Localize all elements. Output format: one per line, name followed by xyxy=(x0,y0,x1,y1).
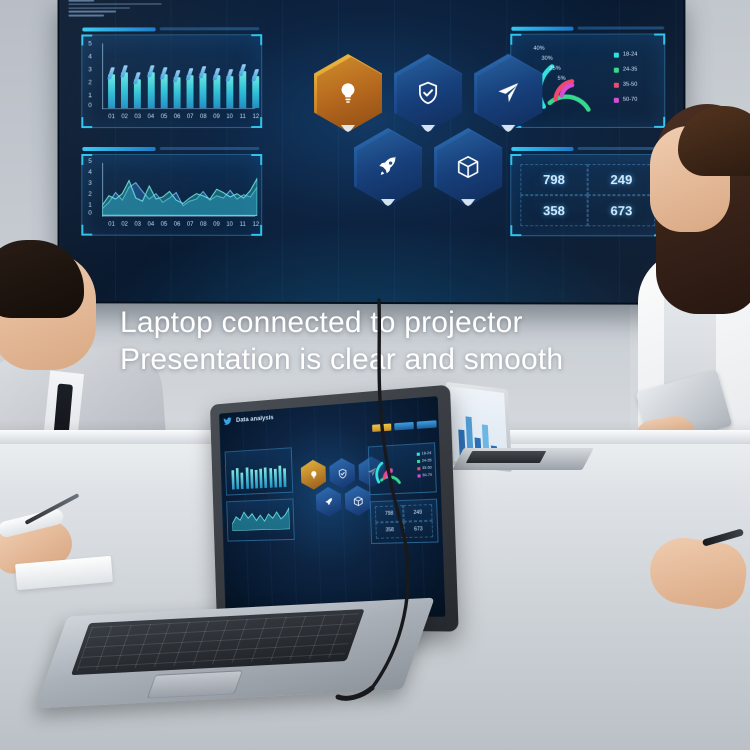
bar-04 xyxy=(147,72,154,108)
laptop-kpi-panel: 798249358673 xyxy=(370,499,439,544)
caption-overlay: Laptop connected to projector Presentati… xyxy=(120,305,680,378)
laptop-legend-label: 50-70 xyxy=(422,473,432,478)
hex-shield[interactable] xyxy=(394,54,462,132)
bar-xtick-05: 05 xyxy=(157,114,171,120)
man-hair xyxy=(0,240,84,318)
bar-xtick-01: 01 xyxy=(105,114,119,120)
laptop-radial-chart: 18-2424-3535-5050-70 xyxy=(368,442,437,495)
lightbulb-icon xyxy=(308,469,319,480)
shield-check-icon xyxy=(337,467,348,479)
laptop-bar xyxy=(231,470,234,490)
legend-swatch xyxy=(614,98,619,103)
scene-root: 5 4 3 2 1 0 010203040506070809101112 5 xyxy=(0,0,750,750)
laptop-trackpad[interactable] xyxy=(147,670,243,698)
laptop-bar xyxy=(283,468,286,487)
bar-xtick-07: 07 xyxy=(183,114,197,120)
kpi-value: 798 xyxy=(520,164,587,195)
caption-line-1: Laptop connected to projector xyxy=(120,305,680,342)
bar-12 xyxy=(252,76,259,108)
laptop-bar xyxy=(259,469,262,488)
legend-item-35-50: 35-50 xyxy=(614,83,637,89)
hex-rocket[interactable] xyxy=(354,128,422,206)
lightbulb-icon xyxy=(335,80,361,106)
paper-plane-icon xyxy=(495,80,521,106)
laptop-bar xyxy=(278,465,281,487)
bar-01 xyxy=(108,74,115,108)
hex-lightbulb[interactable] xyxy=(314,54,382,132)
kpi-value: 358 xyxy=(520,195,587,226)
laptop-legend-label: 35-50 xyxy=(422,465,432,470)
laptop-bar xyxy=(255,470,258,488)
main-laptop-base xyxy=(35,598,434,709)
bar-08 xyxy=(200,73,207,108)
rocket-icon xyxy=(375,154,401,180)
laptop-bar xyxy=(269,468,272,487)
area-chart-svg xyxy=(102,161,257,216)
bar-xtick-11: 11 xyxy=(236,114,250,120)
hex-cube[interactable] xyxy=(434,128,502,206)
bar-02 xyxy=(121,72,128,108)
main-laptop-lid: Data analysis xyxy=(210,385,459,632)
main-laptop-screen[interactable]: Data analysis xyxy=(219,396,445,617)
legend-label: 35-50 xyxy=(623,83,637,89)
area-xtick-11: 11 xyxy=(236,222,250,228)
area-xtick-10: 10 xyxy=(223,222,237,228)
bar-09 xyxy=(213,75,220,108)
legend-label: 18-24 xyxy=(623,53,637,59)
bar-xtick-12: 12 xyxy=(249,114,263,120)
toolbar-button-1[interactable] xyxy=(372,423,391,431)
laptop-bar xyxy=(250,469,253,489)
area-xtick-07: 07 xyxy=(183,222,197,228)
caption-line-2: Presentation is clear and smooth xyxy=(120,342,680,379)
laptop-legend-item: 50-70 xyxy=(417,473,432,478)
area-xtick-08: 08 xyxy=(196,222,210,228)
laptop-bar xyxy=(274,469,277,488)
laptop-kpi-value: 673 xyxy=(404,521,434,538)
laptop-kpi-value: 798 xyxy=(375,505,404,522)
cube-icon xyxy=(455,154,481,180)
toolbar-button-3[interactable] xyxy=(417,420,437,429)
bar-chart-panel: 5 4 3 2 1 0 010203040506070809101112 xyxy=(81,34,262,128)
legend-item-24-35: 24-35 xyxy=(614,68,637,74)
laptop-bar xyxy=(241,472,244,489)
main-laptop: Data analysis xyxy=(55,395,455,725)
secondary-laptop-base xyxy=(452,448,594,470)
bar-11 xyxy=(239,71,246,108)
legend-swatch xyxy=(614,53,619,58)
laptop-legend-item: 35-50 xyxy=(417,465,432,470)
laptop-bar xyxy=(245,468,248,489)
right-hand xyxy=(646,534,750,613)
laptop-kpi-value: 249 xyxy=(403,504,432,522)
screen-fineprint-text xyxy=(68,0,187,18)
laptop-keyboard[interactable] xyxy=(71,609,365,675)
bar-xtick-03: 03 xyxy=(131,114,145,120)
toolbar-button-2[interactable] xyxy=(394,422,414,431)
bar-07 xyxy=(187,75,194,108)
laptop-legend-label: 24-35 xyxy=(422,458,432,463)
bar-xtick-08: 08 xyxy=(196,114,210,120)
bar-xtick-04: 04 xyxy=(144,114,158,120)
laptop-legend-item: 18-24 xyxy=(416,451,431,456)
laptop-bar xyxy=(236,468,239,489)
radial-value-50-70: 5% xyxy=(557,77,565,83)
laptop-area-chart xyxy=(226,498,295,541)
secondary-laptop xyxy=(440,386,590,476)
laptop-bar-chart xyxy=(225,447,294,495)
area-xtick-09: 09 xyxy=(210,222,224,228)
legend-swatch xyxy=(614,83,619,88)
laptop-bar xyxy=(264,467,267,488)
radial-value-24-35: 30% xyxy=(541,57,552,63)
bar-xtick-10: 10 xyxy=(223,114,237,120)
radial-chart-svg xyxy=(533,49,607,123)
area-xtick-12: 12 xyxy=(249,222,263,228)
laptop-legend-item: 24-35 xyxy=(417,458,432,463)
legend-item-18-24: 18-24 xyxy=(614,53,637,59)
rocket-icon xyxy=(323,496,334,507)
shield-check-icon xyxy=(415,80,441,106)
laptop-app-title: Data analysis xyxy=(236,414,274,424)
bar-xtick-02: 02 xyxy=(118,114,132,120)
radial-value-35-50: 25% xyxy=(549,67,560,73)
legend-label: 24-35 xyxy=(623,68,637,74)
bar-xtick-09: 09 xyxy=(210,114,224,120)
laptop-area-svg xyxy=(232,503,290,531)
legend-swatch xyxy=(614,68,619,73)
laptop-kpi-value: 358 xyxy=(375,522,404,539)
laptop-legend-label: 18-24 xyxy=(422,451,432,456)
bar-10 xyxy=(226,76,233,108)
laptop-radial-svg xyxy=(373,453,409,490)
hex-send[interactable] xyxy=(474,54,542,132)
radial-value-18-24: 40% xyxy=(533,47,544,53)
bar-05 xyxy=(161,74,168,108)
hand-right-foreground xyxy=(640,528,750,638)
bar-06 xyxy=(174,77,181,108)
cube-icon xyxy=(352,495,363,507)
bar-xtick-06: 06 xyxy=(170,114,184,120)
bar-03 xyxy=(134,79,141,108)
app-logo-icon xyxy=(223,416,233,427)
area-xtick-06: 06 xyxy=(170,222,184,228)
